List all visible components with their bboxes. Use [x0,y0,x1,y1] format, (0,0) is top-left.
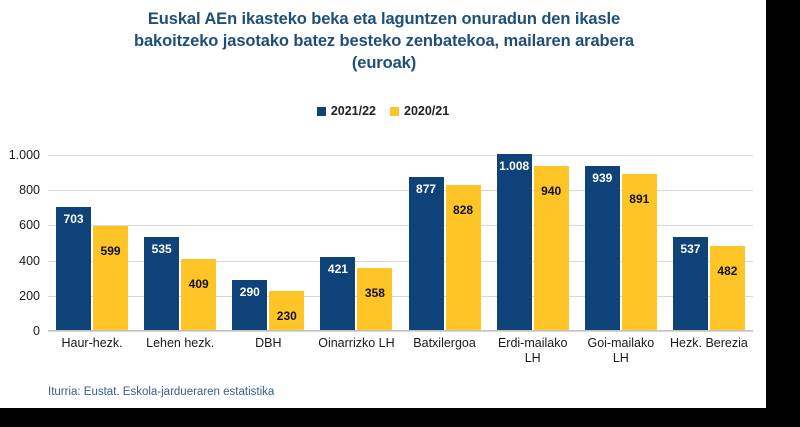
bar[interactable]: 290 [232,280,267,331]
bar[interactable]: 230 [269,291,304,331]
bar[interactable]: 828 [446,185,481,331]
chart-legend: 2021/222020/21 [0,104,766,118]
legend-item-2021-22[interactable]: 2021/22 [317,104,376,118]
x-axis-tick-label: Goi-mailakoLH [577,336,665,366]
x-axis-tick-label: Batxilergoa [401,336,489,366]
y-axis-tick-label: 600 [19,218,40,232]
x-axis-tick-label-line: Hezk. Berezia [665,336,753,351]
x-axis-tick-label: DBH [224,336,312,366]
bar[interactable]: 358 [357,268,392,331]
x-axis-tick-label-line: LH [577,351,665,366]
y-axis-tick-label: 1.000 [9,148,40,162]
bar[interactable]: 535 [144,237,179,331]
x-axis-tick-label: Oinarrizko LH [312,336,400,366]
bar-value-label: 703 [56,212,91,226]
bar[interactable]: 703 [56,207,91,331]
bar-group: 421358 [312,155,400,331]
bar[interactable]: 482 [710,246,745,331]
y-axis-labels: 02004006008001.000 [0,155,40,331]
chart-title-line-2: bakoitzeko jasotako batez besteko zenbat… [48,30,720,52]
x-axis-labels: Haur-hezk.Lehen hezk.DBHOinarrizko LHBat… [48,336,753,366]
bar-value-label: 535 [144,242,179,256]
x-axis-tick-label-line: Goi-mailako [577,336,665,351]
bar-value-label: 599 [93,244,128,258]
legend-label: 2020/21 [404,104,449,118]
chart-title-line-3: (euroak) [48,52,720,74]
legend-swatch-icon [390,107,399,116]
y-axis-tick-label: 400 [19,254,40,268]
legend-item-2020-21[interactable]: 2020/21 [390,104,449,118]
bar[interactable]: 421 [320,257,355,331]
bar[interactable]: 409 [181,259,216,331]
bar-groups: 7035995354092902304213588778281.00894093… [48,155,753,331]
bar-value-label: 537 [673,242,708,256]
bar-value-label: 290 [232,285,267,299]
x-axis-line [48,330,753,331]
chart-title: Euskal AEn ikasteko beka eta laguntzen o… [48,8,720,74]
bar-group: 1.008940 [489,155,577,331]
bar-value-label: 409 [181,277,216,291]
gridline [48,331,753,332]
bar-value-label: 939 [585,171,620,185]
legend-swatch-icon [317,107,326,116]
bar-value-label: 358 [357,286,392,300]
bar-value-label: 877 [409,182,444,196]
bar-group: 537482 [665,155,753,331]
bar[interactable]: 599 [93,226,128,331]
source-note: Iturria: Eustat. Eskola-jardueraren esta… [48,386,274,398]
x-axis-tick-label-line: DBH [224,336,312,351]
bar-group: 535409 [136,155,224,331]
y-axis-tick-label: 0 [33,324,40,338]
x-axis-tick-label-line: Haur-hezk. [48,336,136,351]
y-axis-tick-label: 200 [19,289,40,303]
bar-group: 290230 [224,155,312,331]
bar-group: 939891 [577,155,665,331]
bar-group: 703599 [48,155,136,331]
x-axis-tick-label-line: Oinarrizko LH [312,336,400,351]
x-axis-tick-label-line: Erdi-mailako [489,336,577,351]
bar-value-label: 421 [320,262,355,276]
legend-label: 2021/22 [331,104,376,118]
bar-value-label: 230 [269,309,304,323]
bar[interactable]: 891 [622,174,657,331]
bar[interactable]: 940 [534,166,569,331]
chart-title-line-1: Euskal AEn ikasteko beka eta laguntzen o… [48,8,720,30]
x-axis-tick-label-line: Lehen hezk. [136,336,224,351]
x-axis-tick-label-line: Batxilergoa [401,336,489,351]
x-axis-tick-label: Hezk. Berezia [665,336,753,366]
plot-area: 7035995354092902304213588778281.00894093… [48,155,753,331]
bar-value-label: 940 [534,184,569,198]
x-axis-tick-label-line: LH [489,351,577,366]
chart-canvas: Euskal AEn ikasteko beka eta laguntzen o… [0,0,766,408]
bar-value-label: 482 [710,264,745,278]
bar-group: 877828 [401,155,489,331]
bar-value-label: 891 [622,192,657,206]
bar-value-label: 1.008 [497,159,532,173]
y-axis-tick-label: 800 [19,183,40,197]
x-axis-tick-label: Erdi-mailakoLH [489,336,577,366]
x-axis-tick-label: Haur-hezk. [48,336,136,366]
bar-value-label: 828 [446,203,481,217]
bar[interactable]: 877 [409,177,444,331]
x-axis-tick-label: Lehen hezk. [136,336,224,366]
bar[interactable]: 537 [673,237,708,332]
bar[interactable]: 1.008 [497,154,532,331]
bar[interactable]: 939 [585,166,620,331]
